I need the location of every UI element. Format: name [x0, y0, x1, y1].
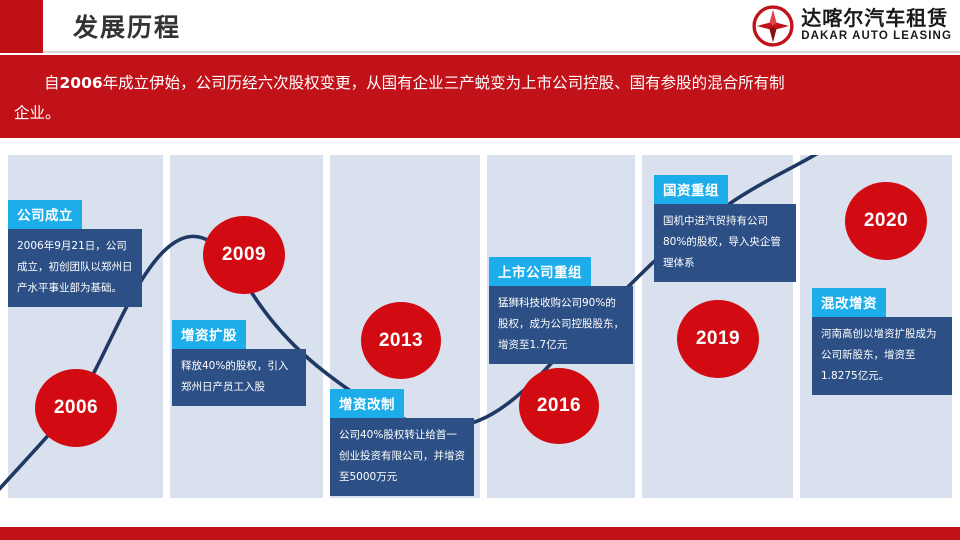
banner-text-line2: 企业。 [14, 104, 61, 122]
milestone-bubble-2013[interactable]: 2013 [361, 302, 441, 379]
star-circle-emblem-icon [752, 5, 794, 47]
milestone-year-2019: 2019 [696, 328, 740, 350]
milestone-card-title-2013: 增资改制 [330, 389, 404, 418]
milestone-card-title-2020: 混改增资 [812, 288, 886, 317]
milestone-card-body-2019: 国机中进汽贸持有公司80%的股权，导入央企管理体系 [654, 204, 796, 282]
milestone-year-2016: 2016 [537, 395, 581, 417]
page-title: 发展历程 [73, 8, 181, 44]
milestone-bubble-2020[interactable]: 2020 [845, 182, 927, 260]
milestone-card-title-2019: 国资重组 [654, 175, 728, 204]
header-divider [43, 51, 960, 53]
milestone-year-2006: 2006 [54, 397, 98, 419]
milestone-card-title-2016: 上市公司重组 [489, 257, 591, 286]
footer-bar [0, 527, 960, 540]
milestone-card-2016[interactable]: 上市公司重组 猛狮科技收购公司90%的股权，成为公司控股股东，增资至1.7亿元 [489, 257, 633, 364]
milestone-card-body-2009: 释放40%的股权，引入郑州日产员工入股 [172, 349, 306, 406]
milestone-card-2019[interactable]: 国资重组 国机中进汽贸持有公司80%的股权，导入央企管理体系 [654, 175, 796, 282]
banner-year-emphasis: 2006 [60, 74, 103, 92]
milestone-bubble-2006[interactable]: 2006 [35, 369, 117, 447]
company-logo: 达喀尔汽车租赁 DAKAR AUTO LEASING [752, 4, 952, 48]
milestone-bubble-2016[interactable]: 2016 [519, 368, 599, 444]
milestone-card-title-2009: 增资扩股 [172, 320, 246, 349]
milestone-year-2009: 2009 [222, 244, 266, 266]
logo-english-name: DAKAR AUTO LEASING [801, 30, 952, 43]
milestone-card-body-2020: 河南高创以增资扩股成为公司新股东，增资至1.8275亿元。 [812, 317, 952, 395]
milestone-bubble-2009[interactable]: 2009 [203, 216, 285, 294]
milestone-card-2013[interactable]: 增资改制 公司40%股权转让给首一创业投资有限公司，并增资至5000万元 [330, 389, 474, 496]
milestone-card-body-2006: 2006年9月21日，公司成立，初创团队以郑州日产水平事业部为基础。 [8, 229, 142, 307]
logo-text-group: 达喀尔汽车租赁 DAKAR AUTO LEASING [801, 8, 952, 43]
milestone-bubble-2019[interactable]: 2019 [677, 300, 759, 378]
milestone-year-2020: 2020 [864, 210, 908, 232]
milestone-card-2020[interactable]: 混改增资 河南高创以增资扩股成为公司新股东，增资至1.8275亿元。 [812, 288, 952, 395]
milestone-card-body-2016: 猛狮科技收购公司90%的股权，成为公司控股股东，增资至1.7亿元 [489, 286, 633, 364]
logo-chinese-name: 达喀尔汽车租赁 [801, 8, 952, 29]
page-header: 发展历程 达喀尔汽车租赁 DAKAR AUTO LEASING [0, 0, 960, 55]
milestone-card-body-2013: 公司40%股权转让给首一创业投资有限公司，并增资至5000万元 [330, 418, 474, 496]
header-accent-block [0, 0, 43, 53]
milestone-card-2006[interactable]: 公司成立 2006年9月21日，公司成立，初创团队以郑州日产水平事业部为基础。 [8, 200, 142, 307]
summary-banner: 自2006年成立伊始，公司历经六次股权变更，从国有企业三产蜕变为上市公司控股、国… [0, 55, 960, 138]
banner-text-a: 自 [44, 74, 60, 92]
banner-text-c: 年成立伊始，公司历经六次股权变更，从国有企业三产蜕变为上市公司控股、国有参股的混… [103, 74, 785, 92]
milestone-card-2009[interactable]: 增资扩股 释放40%的股权，引入郑州日产员工入股 [172, 320, 306, 406]
milestone-year-2013: 2013 [379, 330, 423, 352]
milestone-card-title-2006: 公司成立 [8, 200, 82, 229]
